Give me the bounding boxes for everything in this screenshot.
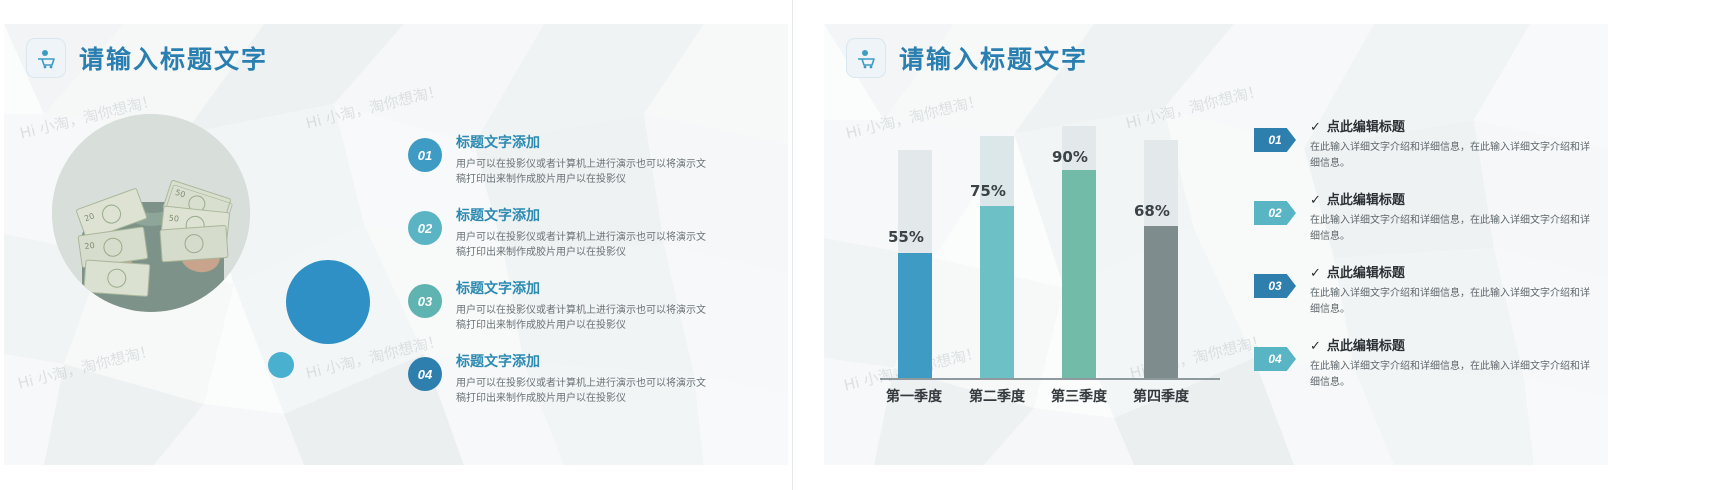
category-label: 第四季度 [1124, 386, 1198, 406]
item-number-badge: 03 [408, 284, 442, 318]
list-item[interactable]: 03 ✓点此编辑标题 在此输入详细文字介绍和详细信息，在此输入详细文字介绍和详细… [1254, 262, 1594, 318]
item-title: ✓点此编辑标题 [1310, 116, 1594, 135]
category-label: 第三季度 [1042, 386, 1116, 406]
slide-left: Hi 小淘，淘你想淘！ Hi 小淘，淘你想淘！ Hi 小淘，淘你想淘！ Hi 小… [4, 24, 788, 465]
page-title: 请输入标题文字 [79, 40, 268, 76]
item-text: ✓点此编辑标题 在此输入详细文字介绍和详细信息，在此输入详细文字介绍和详细信息。 [1310, 189, 1594, 245]
check-icon: ✓ [1310, 266, 1321, 281]
decor-circle-large [286, 260, 370, 344]
item-title: 标题文字添加 [456, 205, 708, 225]
item-number-tag: 01 [1254, 128, 1296, 152]
item-title: ✓点此编辑标题 [1310, 262, 1594, 281]
page-title: 请输入标题文字 [899, 40, 1088, 76]
item-number-tag: 03 [1254, 274, 1296, 298]
chart-bars: 55% 75% 90% 68% [880, 106, 1220, 378]
bar-value [1144, 226, 1178, 378]
list-item[interactable]: 04 ✓点此编辑标题 在此输入详细文字介绍和详细信息，在此输入详细文字介绍和详细… [1254, 335, 1594, 391]
bar-value [980, 206, 1014, 378]
bar-label: 55% [888, 228, 924, 246]
svg-text:20: 20 [84, 241, 95, 251]
slide-divider [792, 0, 793, 490]
item-number-tag: 04 [1254, 347, 1296, 371]
category-label: 第二季度 [960, 386, 1034, 406]
item-text: 标题文字添加 用户可以在投影仪或者计算机上进行演示也可以将演示文稿打印出来制作成… [456, 351, 708, 406]
item-text: 标题文字添加 用户可以在投影仪或者计算机上进行演示也可以将演示文稿打印出来制作成… [456, 278, 708, 333]
item-title-text: 点此编辑标题 [1327, 120, 1405, 135]
chart-axis-line [880, 378, 1220, 380]
list-item[interactable]: 03 标题文字添加 用户可以在投影仪或者计算机上进行演示也可以将演示文稿打印出来… [408, 278, 738, 333]
bar-value [898, 253, 932, 378]
item-body: 用户可以在投影仪或者计算机上进行演示也可以将演示文稿打印出来制作成胶片用户以在投… [456, 303, 708, 333]
item-number-badge: 02 [408, 211, 442, 245]
item-body: 在此输入详细文字介绍和详细信息，在此输入详细文字介绍和详细信息。 [1310, 359, 1594, 391]
bar-label: 75% [970, 182, 1006, 200]
check-icon: ✓ [1310, 193, 1321, 208]
list-item[interactable]: 04 标题文字添加 用户可以在投影仪或者计算机上进行演示也可以将演示文稿打印出来… [408, 351, 738, 406]
item-title-text: 点此编辑标题 [1327, 193, 1405, 208]
watermark: Hi 小淘，淘你想淘！ [304, 79, 445, 133]
item-body: 用户可以在投影仪或者计算机上进行演示也可以将演示文稿打印出来制作成胶片用户以在投… [456, 376, 708, 406]
decor-circle-small [268, 352, 294, 378]
item-body: 在此输入详细文字介绍和详细信息，在此输入详细文字介绍和详细信息。 [1310, 286, 1594, 318]
list-item[interactable]: 01 ✓点此编辑标题 在此输入详细文字介绍和详细信息，在此输入详细文字介绍和详细… [1254, 116, 1594, 172]
shopping-cart-badge-icon [846, 38, 886, 78]
item-text: ✓点此编辑标题 在此输入详细文字介绍和详细信息，在此输入详细文字介绍和详细信息。 [1310, 262, 1594, 318]
item-title: 标题文字添加 [456, 278, 708, 298]
check-icon: ✓ [1310, 120, 1321, 135]
item-number-tag: 02 [1254, 201, 1296, 225]
slide-header-left: 请输入标题文字 [26, 38, 268, 78]
item-number-badge: 04 [408, 357, 442, 391]
item-title: 标题文字添加 [456, 351, 708, 371]
slides-stage: Hi 小淘，淘你想淘！ Hi 小淘，淘你想淘！ Hi 小淘，淘你想淘！ Hi 小… [0, 0, 1720, 490]
check-icon: ✓ [1310, 339, 1321, 354]
item-title: ✓点此编辑标题 [1310, 335, 1594, 354]
item-title: ✓点此编辑标题 [1310, 189, 1594, 208]
bar-label: 68% [1134, 202, 1170, 220]
slide-right: Hi 小淘，淘你想淘！ Hi 小淘，淘你想淘！ Hi 小淘，淘你想淘！ Hi 小… [824, 24, 1608, 465]
item-body: 用户可以在投影仪或者计算机上进行演示也可以将演示文稿打印出来制作成胶片用户以在投… [456, 230, 708, 260]
bar-chart: 55% 75% 90% 68% 第一季度 [880, 106, 1220, 406]
left-feature-list: 01 标题文字添加 用户可以在投影仪或者计算机上进行演示也可以将演示文稿打印出来… [408, 132, 738, 424]
item-text: 标题文字添加 用户可以在投影仪或者计算机上进行演示也可以将演示文稿打印出来制作成… [456, 132, 708, 187]
item-title-text: 点此编辑标题 [1327, 266, 1405, 281]
svg-text:50: 50 [168, 214, 179, 224]
list-item[interactable]: 02 ✓点此编辑标题 在此输入详细文字介绍和详细信息，在此输入详细文字介绍和详细… [1254, 189, 1594, 245]
item-body: 用户可以在投影仪或者计算机上进行演示也可以将演示文稿打印出来制作成胶片用户以在投… [456, 157, 708, 187]
item-body: 在此输入详细文字介绍和详细信息，在此输入详细文字介绍和详细信息。 [1310, 213, 1594, 245]
item-number-badge: 01 [408, 138, 442, 172]
list-item[interactable]: 02 标题文字添加 用户可以在投影仪或者计算机上进行演示也可以将演示文稿打印出来… [408, 205, 738, 260]
item-text: ✓点此编辑标题 在此输入详细文字介绍和详细信息，在此输入详细文字介绍和详细信息。 [1310, 335, 1594, 391]
bar-value [1062, 170, 1096, 378]
slide-header-right: 请输入标题文字 [846, 38, 1088, 78]
right-feature-list: 01 ✓点此编辑标题 在此输入详细文字介绍和详细信息，在此输入详细文字介绍和详细… [1254, 116, 1594, 408]
watermark: Hi 小淘，淘你想淘！ [16, 339, 157, 393]
item-text: 标题文字添加 用户可以在投影仪或者计算机上进行演示也可以将演示文稿打印出来制作成… [456, 205, 708, 260]
hero-photo: 50 50 20 [52, 114, 250, 312]
item-title: 标题文字添加 [456, 132, 708, 152]
category-label: 第一季度 [877, 386, 951, 406]
chart-category-labels: 第一季度 第二季度 第三季度 第四季度 [880, 386, 1220, 412]
item-text: ✓点此编辑标题 在此输入详细文字介绍和详细信息，在此输入详细文字介绍和详细信息。 [1310, 116, 1594, 172]
item-title-text: 点此编辑标题 [1327, 339, 1405, 354]
item-body: 在此输入详细文字介绍和详细信息，在此输入详细文字介绍和详细信息。 [1310, 140, 1594, 172]
list-item[interactable]: 01 标题文字添加 用户可以在投影仪或者计算机上进行演示也可以将演示文稿打印出来… [408, 132, 738, 187]
shopping-cart-badge-icon [26, 38, 66, 78]
bar-label: 90% [1052, 148, 1088, 166]
